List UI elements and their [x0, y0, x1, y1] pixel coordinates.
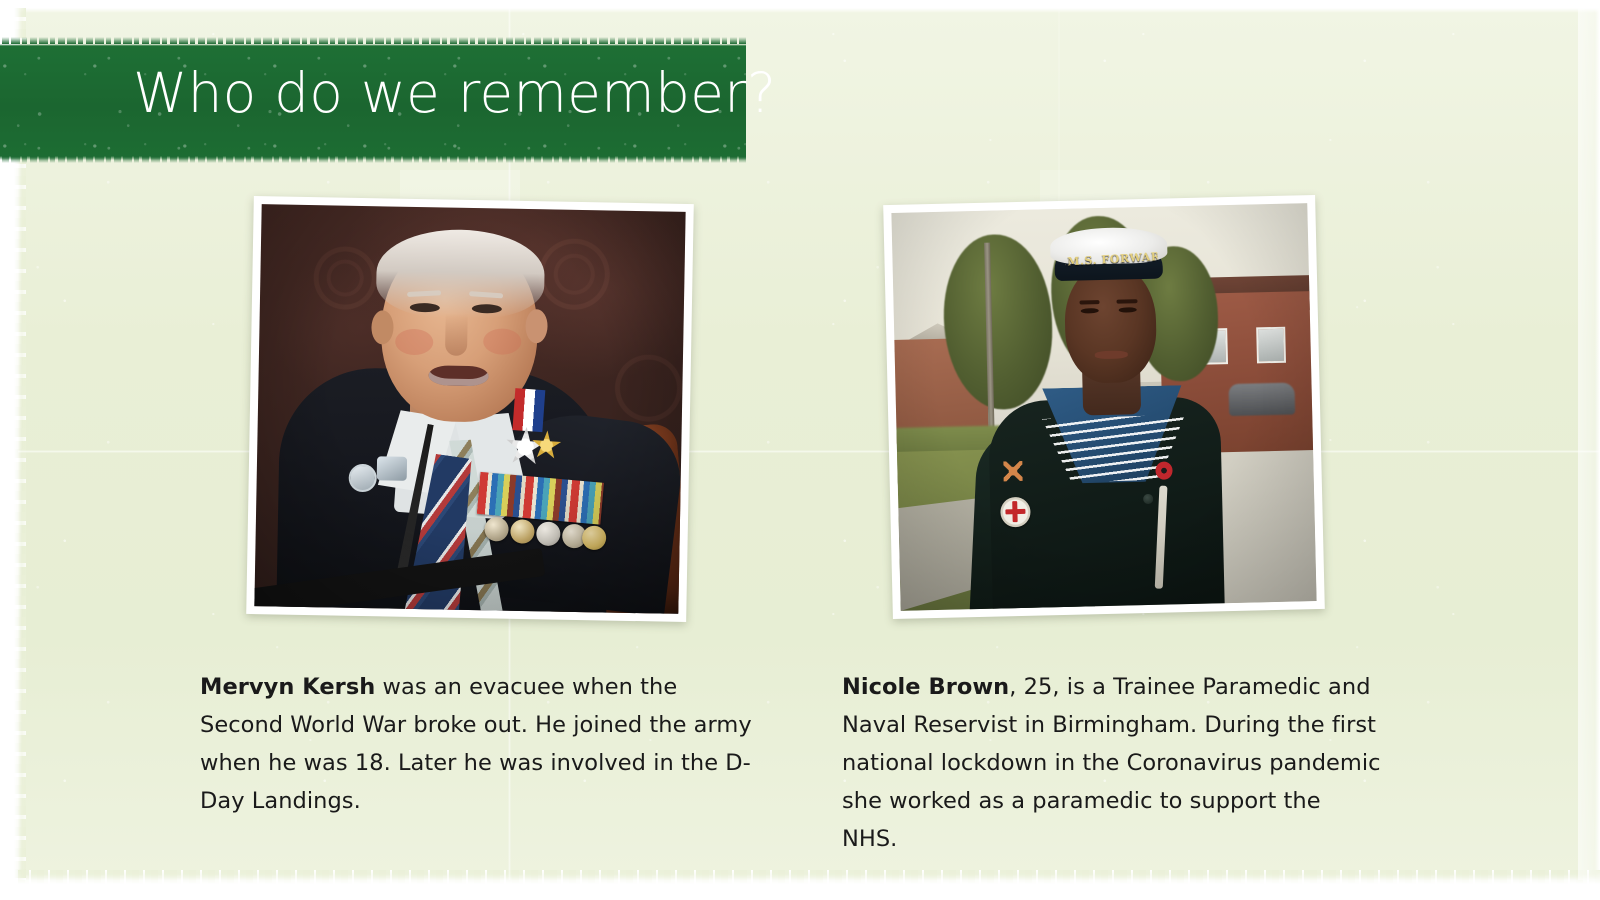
- photo-vignette-left: [254, 204, 685, 614]
- caption-nicole-brown: Nicole Brown, 25, is a Trainee Paramedic…: [842, 668, 1382, 858]
- caption-body-nicole-brown: , 25, is a Trainee Paramedic and Naval R…: [842, 674, 1381, 852]
- page-title: Who do we remember?: [133, 66, 776, 121]
- slide-root: Who do we remember?: [0, 0, 1600, 900]
- caption-name-mervyn-kersh: Mervyn Kersh: [200, 674, 375, 700]
- photo-vignette-right: [891, 203, 1316, 611]
- photo-card-nicole-brown: H.M.S. FORWARD: [883, 195, 1325, 619]
- caption-name-nicole-brown: Nicole Brown: [842, 674, 1009, 700]
- photo-card-mervyn-kersh: [246, 196, 694, 622]
- photo-mervyn-kersh: [254, 204, 685, 614]
- caption-mervyn-kersh: Mervyn Kersh was an evacuee when the Sec…: [200, 668, 760, 820]
- photo-nicole-brown: H.M.S. FORWARD: [891, 203, 1316, 611]
